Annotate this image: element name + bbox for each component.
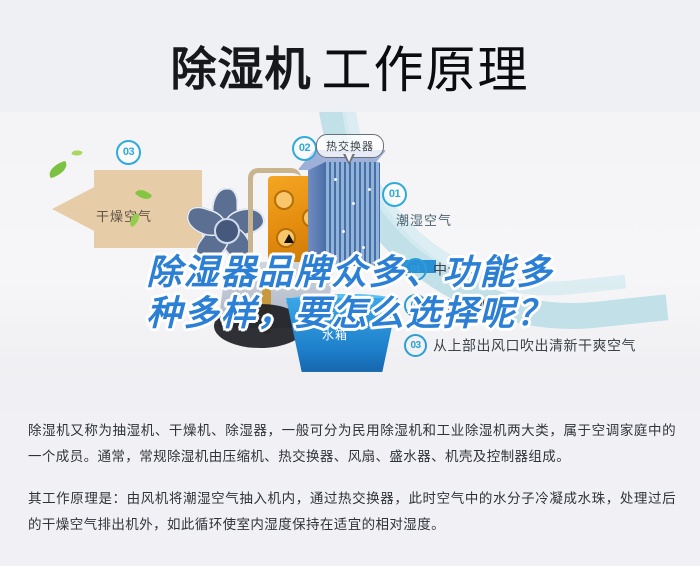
diagram-illustration: 干燥空气 — [0, 112, 700, 412]
legend-text-02: 冷凝成水珠 — [433, 298, 506, 314]
legend-badge-01: 01 — [404, 258, 427, 281]
dry-air-label: 干燥空气 — [96, 206, 152, 225]
legend-badge-02: 02 — [404, 294, 427, 317]
flow-arrow-up-icon — [284, 234, 294, 243]
body-paragraph-1: 除湿机又称为抽湿机、干燥机、除湿器，一般可分为民用除湿机和工业除湿机两大类，属于… — [28, 418, 676, 470]
coil-ring — [274, 190, 294, 210]
badge-02-heat-exchanger: 02 — [292, 136, 317, 161]
page-title-part1: 除湿机 — [171, 43, 312, 95]
page-title-part2: 工作原理 — [322, 42, 530, 98]
page-title: 除湿机工作原理 — [0, 30, 700, 102]
leaf-icon — [71, 149, 82, 158]
badge-01-humid-air: 01 — [382, 182, 407, 207]
body-paragraph-2: 其工作原理是：由风机将潮湿空气抽入机内，通过热交换器，此时空气中的水分子冷凝成水… — [28, 486, 676, 538]
body-copy: 除湿机又称为抽湿机、干燥机、除湿器，一般可分为民用除湿机和工业除湿机两大类，属于… — [28, 418, 676, 554]
heat-exchanger-unit — [318, 154, 392, 272]
badge-03-dry-air: 03 — [116, 140, 141, 165]
callout-pointer-icon — [343, 154, 355, 165]
condensation-dot — [342, 230, 345, 233]
legend-item-03: 03从上部出风口吹出清新干爽空气 — [404, 334, 636, 357]
condensation-dot — [362, 246, 365, 249]
condensation-dot — [352, 202, 355, 205]
condensation-dot — [334, 178, 337, 181]
water-tank-label: 水箱 — [322, 326, 348, 343]
legend-text-03: 从上部出风口吹出清新干爽空气 — [433, 338, 636, 354]
condensation-dot — [368, 188, 371, 191]
legend-badge-03: 03 — [404, 334, 427, 357]
legend-item-01: 01中进风 — [404, 258, 477, 281]
header-banner: 除湿机工作原理 — [0, 0, 700, 118]
legend-item-02: 02冷凝成水珠 — [404, 294, 506, 317]
legend-text-01: 中进风 — [433, 262, 477, 278]
compressor-label: 压缩机 — [246, 270, 275, 283]
leaf-icon — [47, 161, 70, 179]
humid-air-label: 潮湿空气 — [396, 210, 452, 229]
heat-exchanger-fins — [324, 162, 380, 266]
fan-hub — [214, 218, 240, 244]
page-root: 除湿机工作原理 干燥空气 — [0, 0, 700, 566]
